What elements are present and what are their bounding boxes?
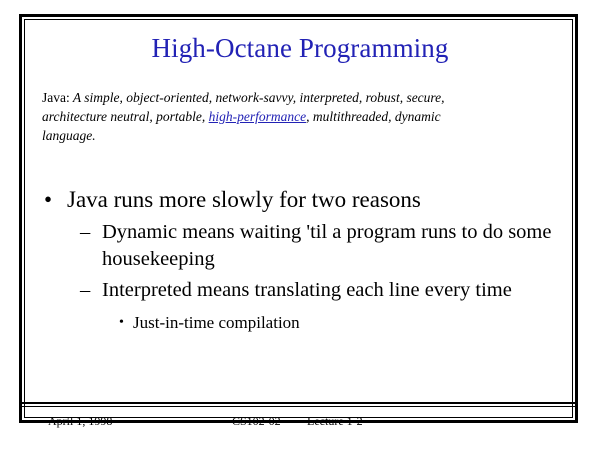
bullet-item-level3-1: • Just-in-time compilation [30,311,582,335]
bullet-item-level2-2: – Interpreted means translating each lin… [30,277,582,304]
footer-date: April 1, 1998 [48,412,112,430]
footer-divider-thin [22,406,575,407]
bullet-text-level2-2: Interpreted means translating each line … [102,279,512,301]
footer-divider-thick [22,402,575,404]
bullet-marker-dash-icon: – [80,219,90,246]
bullet-marker-small-disc-icon: • [119,311,124,335]
slide-canvas: High-Octane Programming Java: A simple, … [0,0,600,450]
java-definition-lead: Java: [42,90,70,105]
footer-lecture-number: Lecture 1-2 [307,412,363,430]
bullet-text-level3-1: Just-in-time compilation [133,313,300,332]
bullet-item-level1-1: • Java runs more slowly for two reasons [30,185,582,215]
java-definition-paragraph: Java: A simple, object-oriented, network… [42,88,492,145]
slide-footer: April 1, 1998 CS102-02 Lecture 1-2 [22,412,575,430]
page-title: High-Octane Programming [0,32,600,64]
bullet-text-level1-1: Java runs more slowly for two reasons [67,187,421,212]
bullet-text-level2-1: Dynamic means waiting 'til a program run… [102,221,551,270]
bullet-item-level2-1: – Dynamic means waiting 'til a program r… [30,219,582,273]
java-definition-highlight: high-performance [209,109,306,124]
footer-course-code: CS102-02 [232,412,281,430]
bullet-marker-disc-icon: • [44,185,52,215]
bullet-marker-dash-icon: – [80,277,90,304]
bullet-list: • Java runs more slowly for two reasons … [30,185,582,335]
